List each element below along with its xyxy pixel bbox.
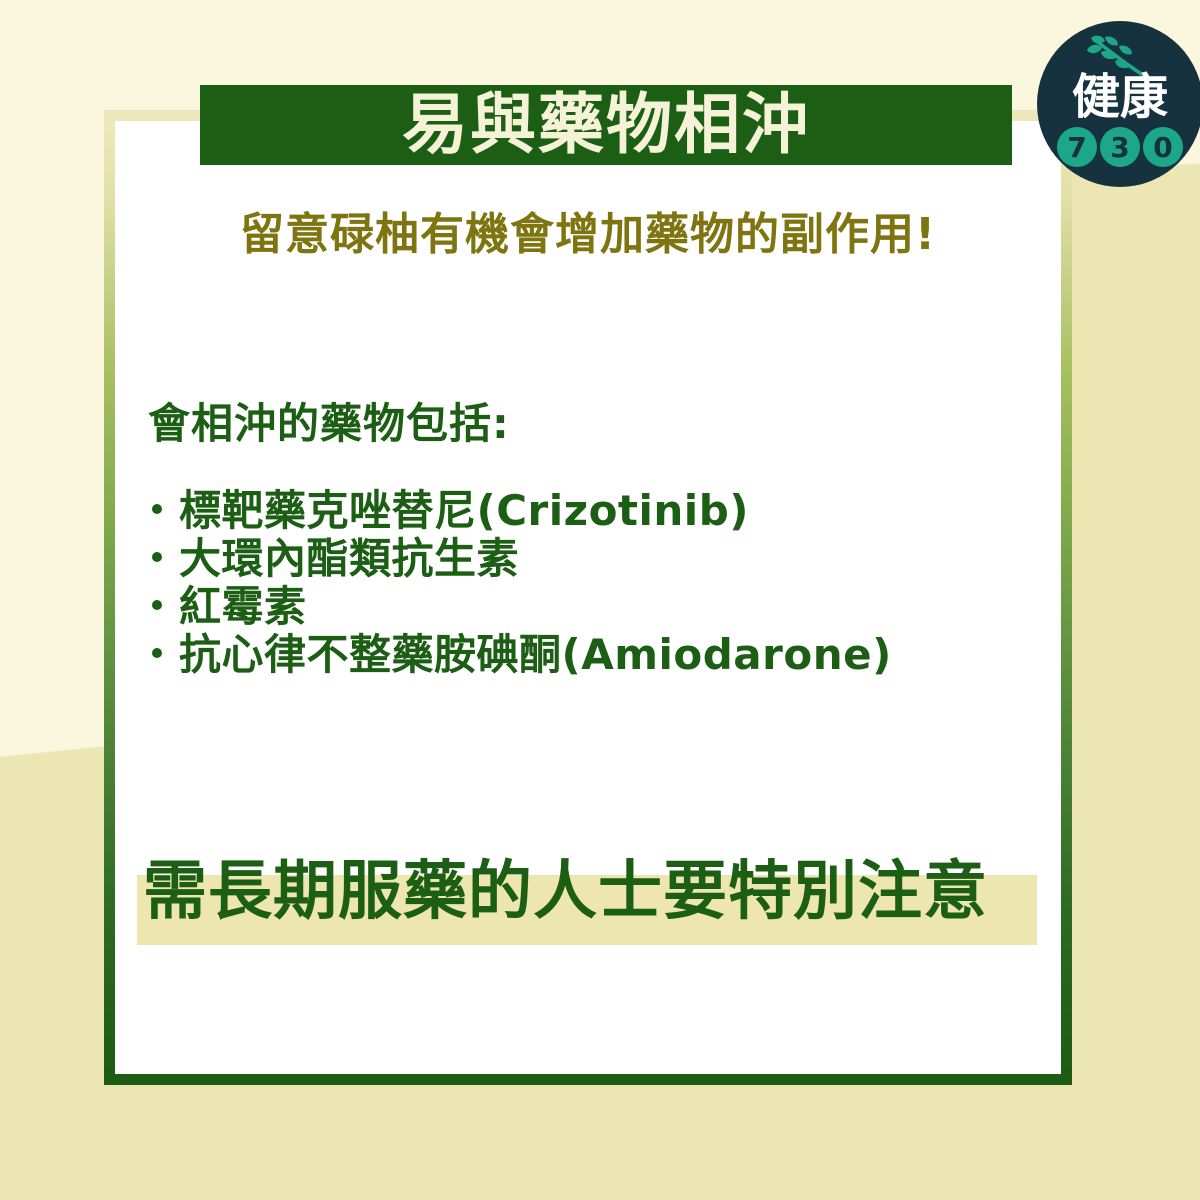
drug-list: 標靶藥克唑替尼(Crizotinib) 大環內酯類抗生素 紅霉素 抗心律不整藥胺… — [152, 487, 1012, 679]
subtitle-text: 留意碌柚有機會增加藥物的副作用! — [104, 198, 1072, 262]
logo-wordmark: 健康 — [1037, 71, 1200, 123]
footer-highlight: 需長期服藥的人士要特別注意 — [137, 842, 1037, 952]
list-item-label: 大環內酯類抗生素 — [179, 535, 519, 583]
list-item-label: 標靶藥克唑替尼(Crizotinib) — [179, 487, 749, 535]
list-heading: 會相沖的藥物包括: — [148, 390, 510, 451]
bullet-dot-icon — [152, 504, 162, 514]
list-item: 大環內酯類抗生素 — [152, 535, 1012, 583]
logo-digit: 3 — [1100, 127, 1140, 167]
bullet-dot-icon — [152, 600, 162, 610]
bullet-dot-icon — [152, 648, 162, 658]
list-item: 抗心律不整藥胺碘酮(Amiodarone) — [152, 631, 1012, 679]
brand-logo: 健康 7 3 0 — [1037, 21, 1200, 187]
page-title: 易與藥物相沖 — [402, 92, 810, 158]
poster-root: 易與藥物相沖 留意碌柚有機會增加藥物的副作用! 會相沖的藥物包括: 標靶藥克唑替… — [0, 0, 1200, 1200]
list-item: 標靶藥克唑替尼(Crizotinib) — [152, 487, 1012, 535]
logo-digit: 0 — [1143, 127, 1183, 167]
logo-digits: 7 3 0 — [1037, 127, 1200, 167]
footer-note: 需長期服藥的人士要特別注意 — [143, 842, 988, 942]
list-item: 紅霉素 — [152, 583, 1012, 631]
list-item-label: 抗心律不整藥胺碘酮(Amiodarone) — [179, 631, 892, 679]
title-banner: 易與藥物相沖 — [200, 85, 1012, 165]
bullet-dot-icon — [152, 552, 162, 562]
logo-digit: 7 — [1057, 127, 1097, 167]
list-item-label: 紅霉素 — [179, 583, 307, 631]
